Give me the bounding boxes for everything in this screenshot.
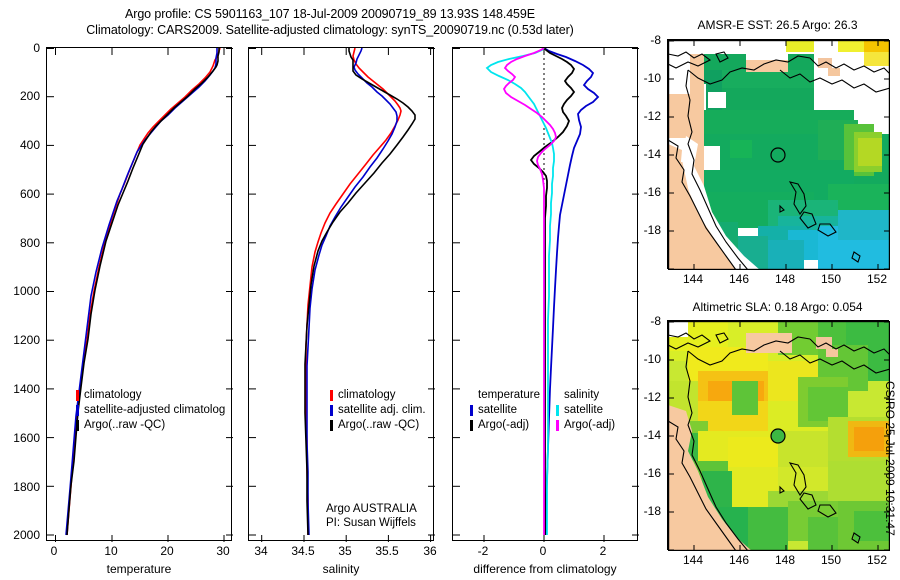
salinity-climatology-curve	[306, 48, 401, 535]
argo-credit: Argo AUSTRALIA PI: Susan Wijffels	[326, 502, 417, 530]
salinity-argo-curve	[305, 48, 415, 535]
legend-item: Argo(..raw -QC)	[76, 418, 225, 433]
depth-tick-400: 400	[0, 138, 40, 152]
sst-lat-tick-10: -10	[615, 71, 661, 85]
temperature-ticks	[47, 48, 233, 542]
salinity-ticks	[249, 48, 435, 542]
sla-lat-tick-10: -10	[615, 352, 661, 366]
legend-item: satellite-adjusted climatolog	[76, 403, 225, 418]
legend-label: Argo(..raw -QC)	[84, 418, 165, 433]
temperature-legend: climatology satellite-adjusted climatolo…	[76, 388, 225, 433]
argo-profile-figure: Argo profile: CS 5901163_107 18-Jul-2009…	[0, 0, 900, 580]
legend-label: Argo(..raw -QC)	[338, 418, 419, 433]
depth-tick-2000: 2000	[0, 528, 40, 542]
temperature-argo-curve	[67, 48, 219, 535]
legend-label: Argo(-adj)	[564, 418, 615, 433]
title-line-2: Climatology: CARS2009. Satellite-adjuste…	[0, 22, 660, 38]
sla-lat-tick-14: -14	[615, 428, 661, 442]
legend-item: Argo(-adj)	[470, 418, 540, 433]
credit-line-1: Argo AUSTRALIA	[326, 502, 417, 516]
difference-xtick-0: 0	[513, 544, 573, 558]
temperature-xtick-10: 10	[81, 544, 141, 558]
argo-swatch	[330, 420, 333, 431]
argo-position-marker	[771, 429, 785, 443]
satellite-swatch	[76, 405, 79, 416]
depth-tick-1200: 1200	[0, 333, 40, 347]
sst-lat-tick-16: -16	[615, 185, 661, 199]
argo-swatch	[76, 420, 79, 431]
sst-lat-tick-8: -8	[615, 33, 661, 47]
salinity-satellite-swatch	[556, 405, 559, 416]
difference-plot	[453, 48, 639, 542]
temperature-panel[interactable]	[46, 47, 232, 541]
salinity-panel[interactable]	[248, 47, 434, 541]
legend-label: climatology	[84, 388, 142, 403]
legend-label: satellite adj. clim.	[338, 403, 426, 418]
depth-tick-600: 600	[0, 187, 40, 201]
sla-lat-tick-12: -12	[615, 390, 661, 404]
depth-tick-1400: 1400	[0, 382, 40, 396]
legend-item: satellite	[470, 403, 540, 418]
salinity-plot	[249, 48, 435, 542]
legend-item: Argo(..raw -QC)	[330, 418, 426, 433]
sst-map-title: AMSR-E SST: 26.5 Argo: 26.3	[665, 18, 890, 32]
temperature-xtick-20: 20	[137, 544, 197, 558]
sst-lat-tick-12: -12	[615, 109, 661, 123]
sst-lat-tick-14: -14	[615, 147, 661, 161]
sst-lat-tick-18: -18	[615, 223, 661, 237]
depth-tick-1600: 1600	[0, 431, 40, 445]
sla-map-panel[interactable]	[667, 320, 889, 550]
temperature-plot	[47, 48, 233, 542]
salinity-axis-label: salinity	[248, 562, 434, 576]
salinity-legend: climatology satellite adj. clim. Argo(..…	[330, 388, 426, 433]
difference-panel[interactable]	[452, 47, 638, 541]
legend-label: satellite	[564, 403, 603, 418]
legend-label: satellite-adjusted climatolog	[84, 403, 225, 418]
temperature-climatology-curve	[67, 48, 220, 535]
sla-lat-tick-8: -8	[615, 314, 661, 328]
csiro-timestamp: CSIRO 25-Jul-2009 10:31:47	[883, 381, 897, 536]
depth-tick-800: 800	[0, 236, 40, 250]
temperature-satellite-curve	[66, 48, 217, 535]
depth-tick-0: 0	[0, 41, 40, 55]
title-line-1: Argo profile: CS 5901163_107 18-Jul-2009…	[0, 6, 660, 22]
difference-xtick-neg2: -2	[453, 544, 513, 558]
credit-line-2: PI: Susan Wijffels	[326, 516, 417, 530]
difference-axis-label: difference from climatology	[452, 562, 638, 576]
depth-tick-200: 200	[0, 89, 40, 103]
salinity-argo-swatch	[556, 420, 559, 431]
depth-tick-1000: 1000	[0, 284, 40, 298]
legend-heading-temperature: temperature	[470, 388, 540, 403]
legend-label: satellite	[478, 403, 517, 418]
legend-item: satellite	[556, 403, 615, 418]
legend-item: climatology	[330, 388, 426, 403]
temperature-axis-label: temperature	[46, 562, 232, 576]
depth-tick-1800: 1800	[0, 480, 40, 494]
sla-map-title: Altimetric SLA: 0.18 Argo: 0.054	[665, 300, 890, 314]
argo-swatch	[470, 420, 473, 431]
difference-temperature-legend: temperature satellite Argo(-adj)	[470, 388, 540, 433]
sla-lon-tick-152: 152	[847, 553, 900, 567]
temperature-argo-diff-curve	[531, 48, 574, 535]
legend-heading-salinity: salinity	[556, 388, 615, 403]
temperature-xtick-0: 0	[24, 544, 84, 558]
sla-map-plot	[668, 321, 890, 551]
difference-xtick-2: 2	[573, 544, 633, 558]
sst-map-panel[interactable]	[667, 39, 889, 269]
legend-item: Argo(-adj)	[556, 418, 615, 433]
salinity-satellite-curve	[307, 48, 397, 535]
figure-title: Argo profile: CS 5901163_107 18-Jul-2009…	[0, 6, 660, 38]
temperature-satellite-diff-curve	[544, 48, 598, 535]
sst-map-plot	[668, 40, 890, 270]
climatology-swatch	[76, 390, 79, 401]
salinity-xtick-36: 36	[400, 544, 460, 558]
legend-label: climatology	[338, 388, 396, 403]
difference-salinity-legend: salinity satellite Argo(-adj)	[556, 388, 615, 433]
climatology-swatch	[330, 390, 333, 401]
satellite-swatch	[330, 405, 333, 416]
satellite-swatch	[470, 405, 473, 416]
sla-lat-tick-18: -18	[615, 504, 661, 518]
sla-lat-tick-16: -16	[615, 466, 661, 480]
legend-item: satellite adj. clim.	[330, 403, 426, 418]
legend-label: Argo(-adj)	[478, 418, 529, 433]
legend-item: climatology	[76, 388, 225, 403]
sst-lon-tick-152: 152	[847, 272, 900, 286]
